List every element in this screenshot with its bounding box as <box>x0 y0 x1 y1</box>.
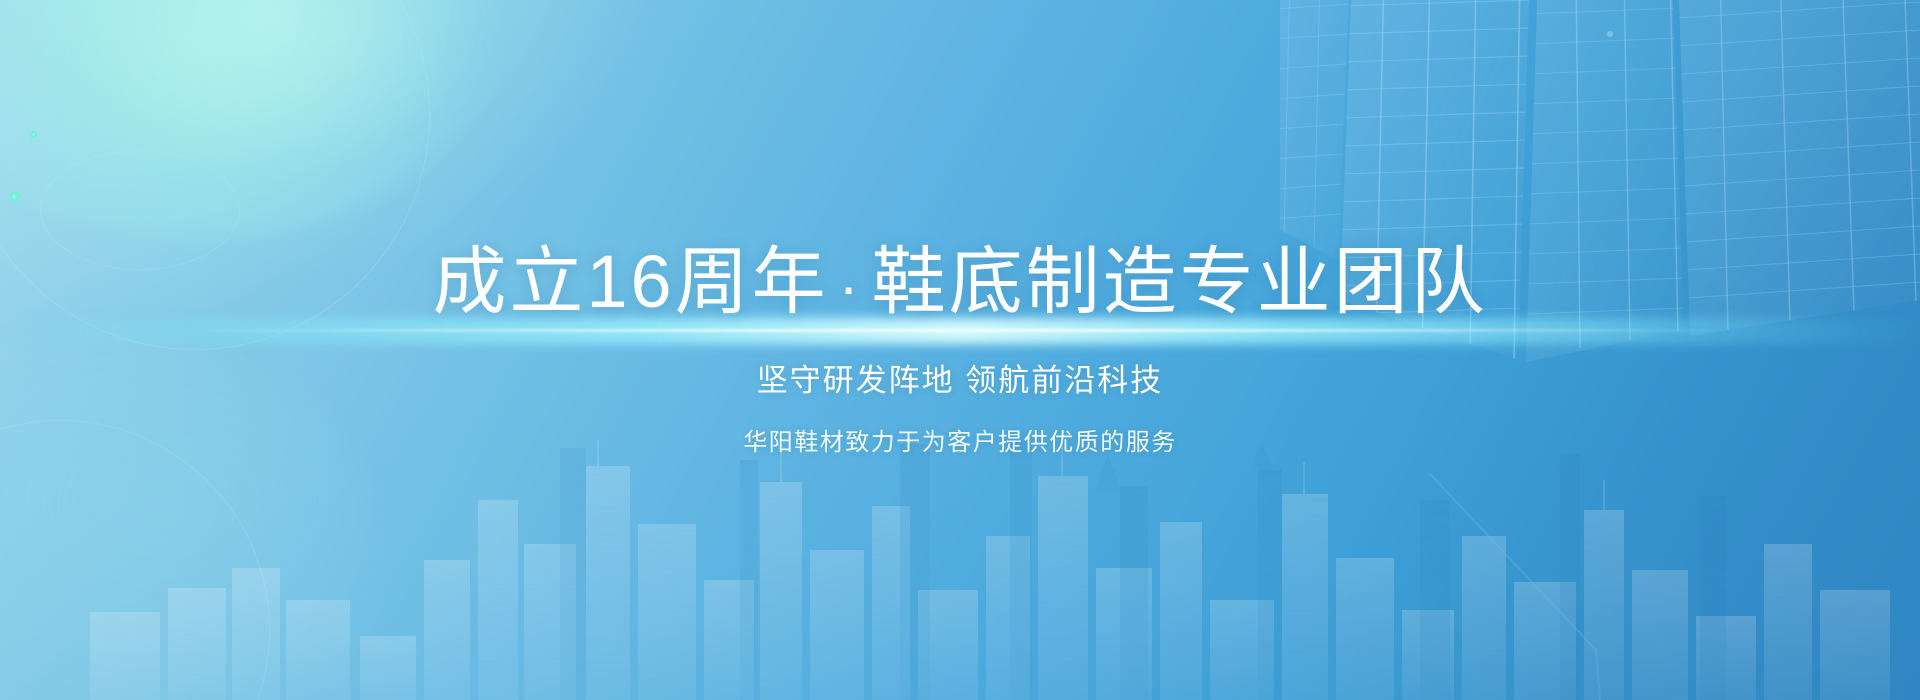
banner-headline: 成立16周年·鞋底制造专业团队 <box>432 243 1487 321</box>
hero-banner: 成立16周年·鞋底制造专业团队 坚守研发阵地 领航前沿科技 华阳鞋材致力于为客户… <box>0 0 1920 700</box>
banner-content: 成立16周年·鞋底制造专业团队 坚守研发阵地 领航前沿科技 华阳鞋材致力于为客户… <box>0 0 1920 700</box>
headline-suffix: 鞋底制造专业团队 <box>872 240 1488 323</box>
headline-separator: · <box>829 253 872 320</box>
headline-prefix: 成立16周年 <box>432 240 828 323</box>
banner-subtitle-secondary: 华阳鞋材致力于为客户提供优质的服务 <box>743 422 1177 457</box>
banner-subtitle-primary: 坚守研发阵地 领航前沿科技 <box>757 355 1164 400</box>
